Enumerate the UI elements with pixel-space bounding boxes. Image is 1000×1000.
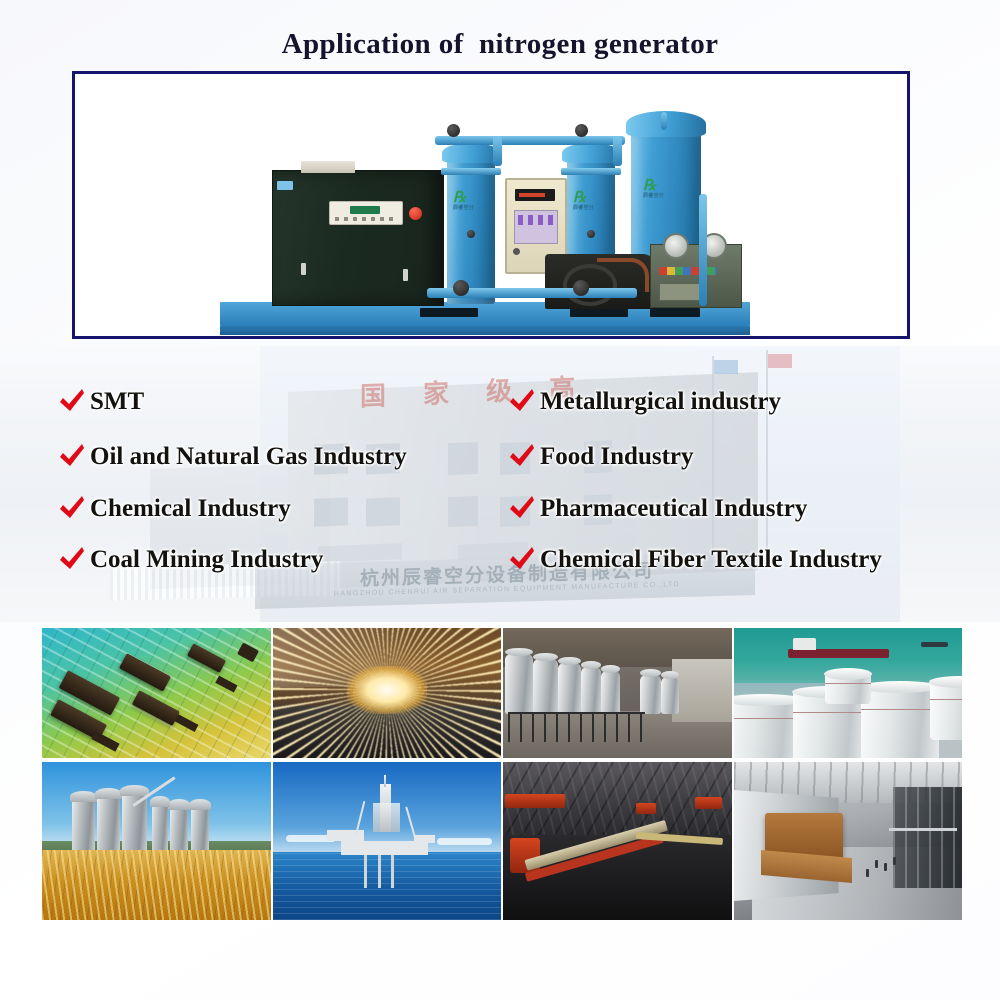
application-item-pharmaceutical-industry[interactable]: Pharmaceutical Industry: [508, 495, 807, 523]
tile-paper-textile-mill[interactable]: [734, 762, 963, 920]
application-item-food-industry[interactable]: Food Industry: [508, 443, 694, 471]
top-header-pipe: [435, 136, 625, 145]
ocean: [273, 852, 502, 920]
booster-engine: [545, 254, 655, 309]
application-item-smt[interactable]: SMT: [58, 388, 144, 416]
red-check-icon: [58, 443, 86, 471]
application-item-coal-mining-industry[interactable]: Coal Mining Industry: [58, 546, 323, 574]
application-label: Pharmaceutical Industry: [540, 495, 807, 523]
tile-coal-mine-conveyor[interactable]: [503, 762, 732, 920]
red-check-icon: [58, 546, 86, 574]
tanker-ship: [788, 649, 889, 658]
red-check-icon: [508, 546, 536, 574]
applications-band: 国 家 级 高 杭州辰睿空分设备制造有限公司 HANGZHOU CHENRUI …: [0, 346, 1000, 622]
valve-lower-left: [453, 280, 469, 296]
red-check-icon: [508, 443, 536, 471]
highlight-sheen: [273, 628, 502, 687]
overhead-gantry: [893, 787, 962, 888]
application-item-chemical-fiber-textile-industry[interactable]: Chemical Fiber Textile Industry: [508, 546, 882, 574]
wheat-field: [42, 850, 271, 920]
application-label: Coal Mining Industry: [90, 546, 323, 574]
air-compressor-unit: [272, 170, 444, 306]
tile-smt-circuit-board[interactable]: [42, 628, 271, 758]
riser-pipe-a: [493, 136, 502, 166]
red-check-icon: [58, 388, 86, 416]
tank-vent-stack: [661, 112, 667, 130]
tile-food-brewery-tanks[interactable]: [503, 628, 732, 758]
page-root: Application of nitrogen generator: [0, 0, 1000, 1000]
nitrogen-generator-product-photo: ℞辰睿空分 ℞辰睿空分 ℞辰睿空分: [75, 74, 907, 336]
applications-checklist: SMT Oil and Natural Gas Industry Chemica…: [0, 346, 1000, 622]
page-title: Application of nitrogen generator: [0, 28, 1000, 61]
gantry-rail: [889, 828, 958, 831]
application-label: Chemical Industry: [90, 495, 291, 523]
red-check-icon: [508, 495, 536, 523]
application-label: Metallurgical industry: [540, 388, 781, 416]
application-item-oil-and-natural-gas-industry[interactable]: Oil and Natural Gas Industry: [58, 443, 407, 471]
booster-control-box: [650, 244, 742, 308]
tile-grain-silos[interactable]: [42, 762, 271, 920]
red-check-icon: [508, 388, 536, 416]
safety-railing: [508, 712, 645, 743]
valve-top-left: [447, 124, 460, 137]
hero-photo-frame: ℞辰睿空分 ℞辰睿空分 ℞辰睿空分: [72, 71, 910, 339]
tile-metal-laser-cutting[interactable]: [273, 628, 502, 758]
small-boat: [921, 642, 948, 647]
application-label: Food Industry: [540, 443, 694, 471]
valve-lower-right: [573, 280, 589, 296]
application-label: Oil and Natural Gas Industry: [90, 443, 407, 471]
application-item-chemical-industry[interactable]: Chemical Industry: [58, 495, 291, 523]
application-photo-grid: [42, 628, 962, 920]
platform-deck: [341, 841, 428, 855]
tile-oil-storage-tanks[interactable]: [734, 628, 963, 758]
tank-outlet-pipe: [699, 194, 707, 306]
application-label: SMT: [90, 388, 144, 416]
application-item-metallurgical-industry[interactable]: Metallurgical industry: [508, 388, 781, 416]
riser-pipe-b: [613, 136, 622, 166]
tile-offshore-oil-rig[interactable]: [273, 762, 502, 920]
valve-top-right: [575, 124, 588, 137]
red-check-icon: [58, 495, 86, 523]
back-wall: [672, 659, 731, 721]
bucket-wheel-loader: [505, 794, 564, 808]
application-label: Chemical Fiber Textile Industry: [540, 546, 882, 574]
